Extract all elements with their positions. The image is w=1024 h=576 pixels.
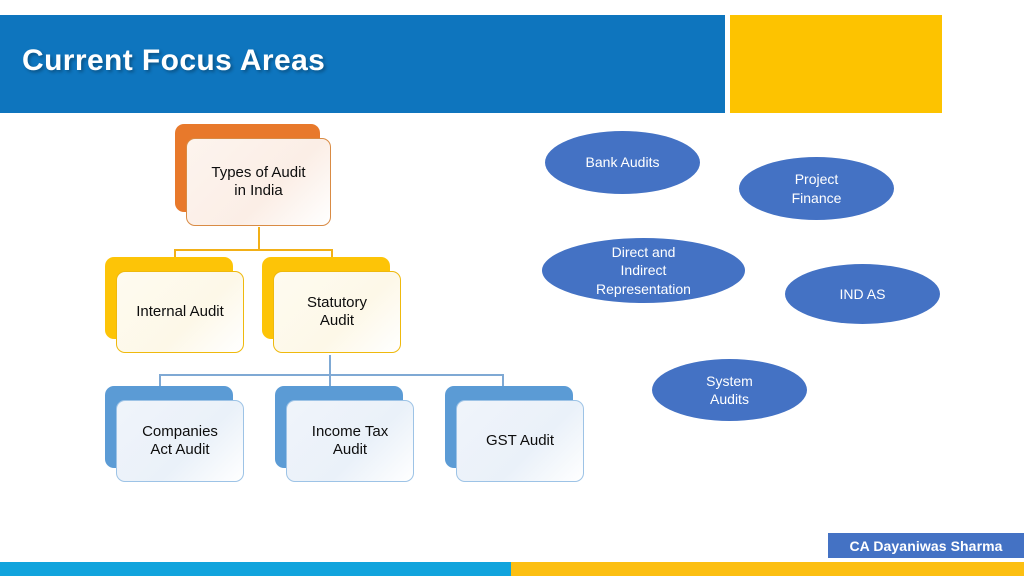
slide-canvas: Current Focus Areas Types of Audit in In… xyxy=(0,0,1024,576)
node-statutory-audit[interactable]: Statutory Audit xyxy=(262,257,390,339)
node-card: Companies Act Audit xyxy=(116,400,244,482)
node-income-tax-audit[interactable]: Income Tax Audit xyxy=(275,386,403,468)
node-companies-act-audit[interactable]: Companies Act Audit xyxy=(105,386,233,468)
connector-level2-bus xyxy=(174,249,333,251)
node-card: Types of Audit in India xyxy=(186,138,331,226)
node-card: Income Tax Audit xyxy=(286,400,414,482)
connector-root-stem xyxy=(258,227,260,250)
header-accent-block xyxy=(730,15,942,113)
node-types-of-audit-in-india[interactable]: Types of Audit in India xyxy=(175,124,320,212)
ellipse-label: Direct and Indirect Representation xyxy=(542,243,745,298)
ellipse-label: System Audits xyxy=(652,372,807,408)
node-label: Types of Audit in India xyxy=(211,164,305,201)
ellipse-label: IND AS xyxy=(785,285,940,303)
ellipse-label: Project Finance xyxy=(739,170,894,206)
connector-level3-bus xyxy=(159,374,504,376)
node-label: Companies Act Audit xyxy=(142,423,218,460)
ellipse-bank-audits[interactable]: Bank Audits xyxy=(545,131,700,194)
node-gst-audit[interactable]: GST Audit xyxy=(445,386,573,468)
node-label: GST Audit xyxy=(486,432,554,450)
node-label: Income Tax Audit xyxy=(312,423,388,460)
ellipse-ind-as[interactable]: IND AS xyxy=(785,264,940,324)
ellipse-system-audits[interactable]: System Audits xyxy=(652,359,807,421)
node-card: Statutory Audit xyxy=(273,271,401,353)
page-title: Current Focus Areas xyxy=(22,44,325,78)
ellipse-project-finance[interactable]: Project Finance xyxy=(739,157,894,220)
connector-statutory-stem xyxy=(329,355,331,375)
node-label: Statutory Audit xyxy=(307,294,367,331)
node-card: GST Audit xyxy=(456,400,584,482)
node-label: Internal Audit xyxy=(136,303,224,321)
footer-bar-left xyxy=(0,562,511,576)
footer-credit-badge: CA Dayaniwas Sharma xyxy=(828,533,1024,558)
node-card: Internal Audit xyxy=(116,271,244,353)
footer-bar-right xyxy=(511,562,1024,576)
ellipse-direct-indirect-representation[interactable]: Direct and Indirect Representation xyxy=(542,238,745,303)
node-internal-audit[interactable]: Internal Audit xyxy=(105,257,233,339)
ellipse-label: Bank Audits xyxy=(545,153,700,171)
